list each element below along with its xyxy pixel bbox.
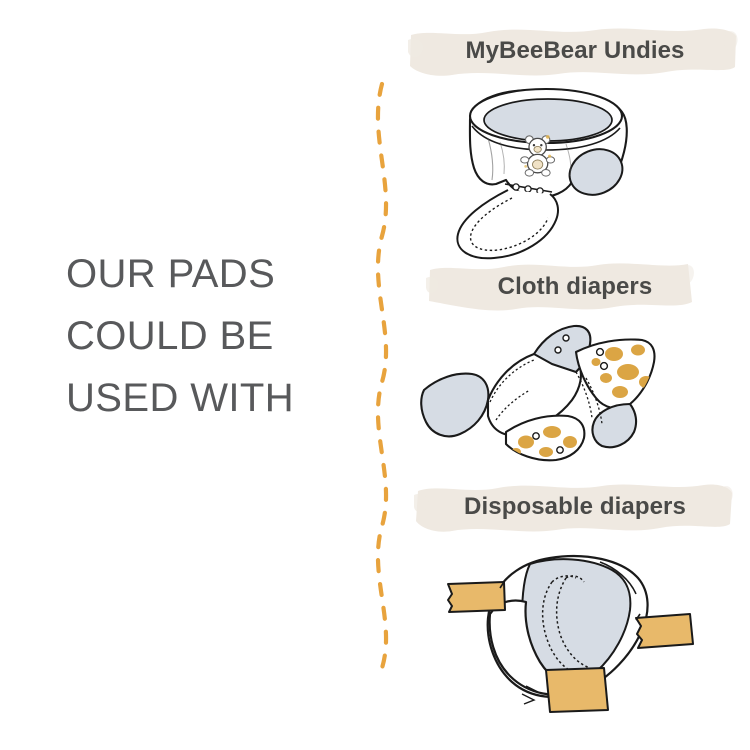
headline-line-3: USED WITH	[66, 367, 356, 429]
infographic-canvas: OUR PADS COULD BE USED WITH MyBeeBear Un…	[0, 0, 750, 750]
headline-line-1: OUR PADS	[66, 243, 356, 305]
adhesive-tab-bottom	[546, 668, 608, 712]
label-disposable-diapers: Disposable diapers	[400, 478, 750, 536]
page-title: OUR PADS COULD BE USED WITH	[66, 243, 356, 429]
headline-line-2: COULD BE	[66, 305, 356, 367]
label-text-disposable-diapers: Disposable diapers	[400, 478, 750, 536]
illustration-cloth-diapers	[400, 316, 750, 476]
adhesive-tab-left	[448, 582, 505, 612]
item-disposable-diapers: Disposable diapers	[400, 478, 750, 740]
label-text-mybeebear-undies: MyBeeBear Undies	[400, 22, 750, 80]
adhesive-tab-right	[636, 614, 693, 648]
label-mybeebear-undies: MyBeeBear Undies	[400, 22, 750, 80]
label-cloth-diapers: Cloth diapers	[400, 258, 750, 316]
illustration-disposable-diapers	[400, 536, 750, 726]
label-text-cloth-diapers: Cloth diapers	[400, 258, 750, 316]
item-mybeebear-undies: MyBeeBear Undies	[400, 22, 750, 272]
item-cloth-diapers: Cloth diapers	[400, 258, 750, 483]
illustration-mybeebear-undies	[400, 80, 750, 270]
